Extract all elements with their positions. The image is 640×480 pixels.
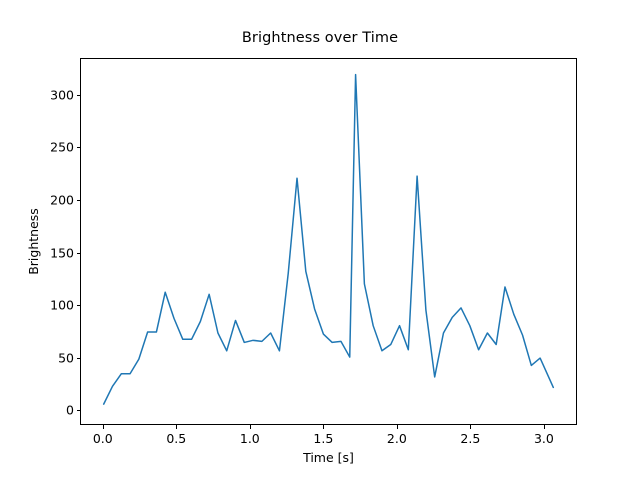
x-tick-mark [470,425,471,429]
chart-figure: Brightness over Time Brightness Time [s]… [0,0,640,480]
y-tick-label: 100 [30,298,74,313]
brightness-line-series [104,75,554,404]
x-tick-mark [103,425,104,429]
x-tick-mark [544,425,545,429]
line-plot-svg [81,59,576,424]
x-tick-mark [250,425,251,429]
x-tick-label: 0.5 [166,431,186,446]
y-tick-label: 250 [30,140,74,155]
x-tick-label: 3.0 [534,431,554,446]
x-tick-mark [323,425,324,429]
y-axis-label: Brightness [26,58,41,425]
y-tick-label: 0 [30,403,74,418]
chart-title: Brightness over Time [0,30,640,46]
x-tick-mark [176,425,177,429]
x-tick-mark [397,425,398,429]
plot-axes-frame [80,58,577,425]
x-tick-label: 1.0 [240,431,260,446]
y-tick-label: 50 [30,350,74,365]
x-tick-label: 1.5 [313,431,333,446]
x-axis-label: Time [s] [80,450,577,465]
y-tick-label: 300 [30,87,74,102]
x-tick-label: 2.0 [387,431,407,446]
x-tick-label: 0.0 [93,431,113,446]
x-tick-label: 2.5 [460,431,480,446]
y-tick-label: 150 [30,245,74,260]
y-tick-label: 200 [30,192,74,207]
